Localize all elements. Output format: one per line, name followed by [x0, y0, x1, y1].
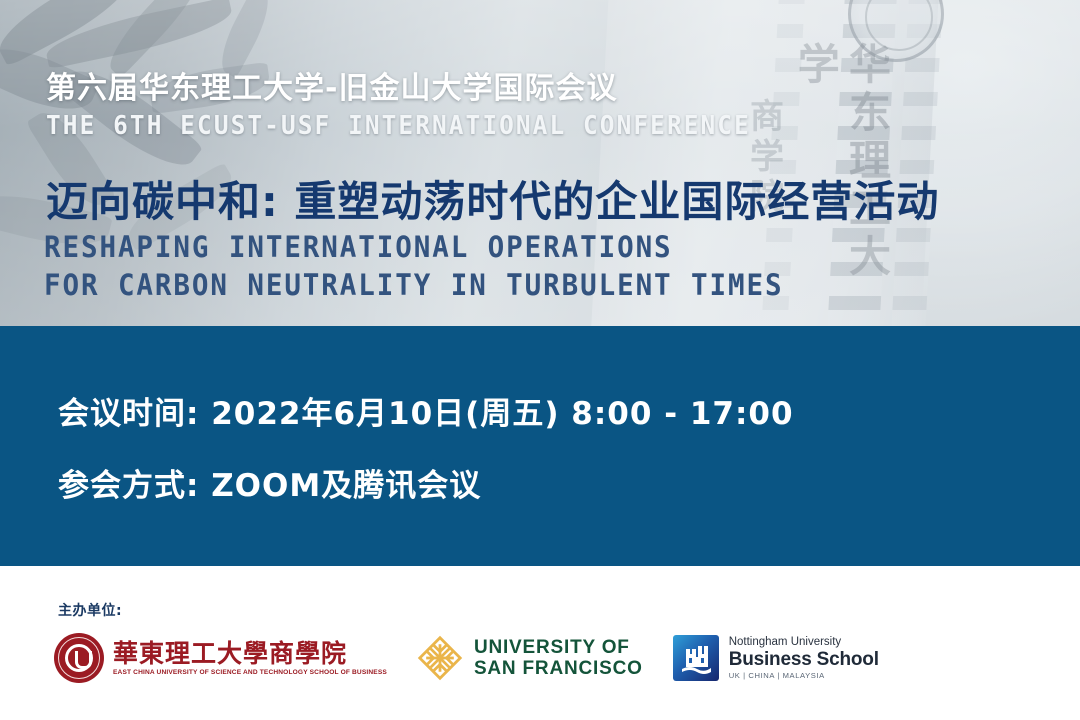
castle-glyph	[673, 635, 719, 681]
conference-name-cn: 第六届华东理工大学-旧金山大学国际会议	[46, 72, 1046, 106]
nottingham-locations: UK | CHINA | MALAYSIA	[729, 671, 879, 681]
usf-name-line1: UNIVERSITY OF	[474, 637, 643, 658]
nottingham-castle-icon	[673, 635, 719, 681]
conference-poster: 华东理工大学 商学院 第六届华东理工大学-旧金山大学国际会议 THE 6TH E…	[0, 0, 1080, 720]
ecust-seal-icon	[54, 633, 104, 683]
nottingham-name-line2: Business School	[729, 649, 879, 670]
logo-university-of-san-francisco: UNIVERSITY OF SAN FRANCISCO	[417, 635, 643, 681]
theme-title-en: RESHAPING INTERNATIONAL OPERATIONS FOR C…	[44, 228, 783, 304]
logo-ecust-business-school: 華東理工大學商學院 EAST CHINA UNIVERSITY OF SCIEN…	[54, 633, 387, 683]
conference-name-block: 第六届华东理工大学-旧金山大学国际会议 THE 6TH ECUST-USF IN…	[46, 72, 1046, 142]
usf-name-line2: SAN FRANCISCO	[474, 658, 643, 679]
details-band: 会议时间: 2022年6月10日(周五) 8:00 - 17:00 参会方式: …	[0, 326, 1080, 566]
ecust-name-cn: 華東理工大學商學院	[113, 640, 387, 667]
ecust-wordmark: 華東理工大學商學院 EAST CHINA UNIVERSITY OF SCIEN…	[113, 640, 387, 677]
gear-icon	[65, 644, 93, 672]
footer: 主办单位: 華東理工大學商學院 EAST CHINA UNIVERSITY OF…	[0, 566, 1080, 720]
logo-nottingham-university-business-school: Nottingham University Business School UK…	[673, 635, 879, 681]
ecust-name-en: EAST CHINA UNIVERSITY OF SCIENCE AND TEC…	[113, 669, 387, 677]
conference-name-en: THE 6TH ECUST-USF INTERNATIONAL CONFEREN…	[46, 110, 986, 142]
organizer-logo-row: 華東理工大學商學院 EAST CHINA UNIVERSITY OF SCIEN…	[54, 628, 879, 688]
theme-title-en-line1: RESHAPING INTERNATIONAL OPERATIONS	[44, 228, 783, 266]
usf-wordmark: UNIVERSITY OF SAN FRANCISCO	[474, 637, 643, 679]
usf-diamond-cross-icon	[417, 635, 463, 681]
theme-title-cn: 迈向碳中和: 重塑动荡时代的企业国际经营活动	[46, 178, 939, 226]
organizer-label: 主办单位:	[58, 600, 122, 620]
nottingham-name-line1: Nottingham University	[729, 636, 879, 649]
nottingham-wordmark: Nottingham University Business School UK…	[729, 636, 879, 681]
conference-time: 会议时间: 2022年6月10日(周五) 8:00 - 17:00	[58, 388, 794, 433]
conference-platform: 参会方式: ZOOM及腾讯会议	[58, 460, 481, 505]
theme-title-en-line2: FOR CARBON NEUTRALITY IN TURBULENT TIMES	[44, 266, 783, 304]
